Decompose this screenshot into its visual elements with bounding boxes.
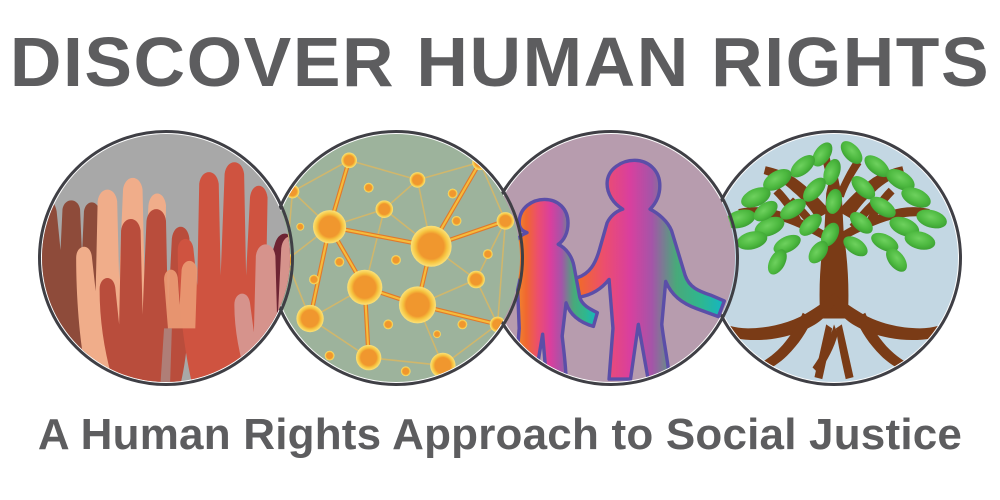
discover-human-rights-banner: DISCOVER HUMAN RIGHTS (0, 0, 1000, 500)
page-subtitle: A Human Rights Approach to Social Justic… (0, 410, 1000, 460)
circle-network-nodes (268, 130, 524, 386)
page-title: DISCOVER HUMAN RIGHTS (0, 26, 1000, 98)
circle-tree-of-life (706, 130, 962, 386)
icon-circle-row (0, 130, 1000, 388)
circle-raised-hands (38, 130, 294, 386)
tree-illustration (709, 133, 959, 383)
raised-hands-illustration (41, 133, 291, 383)
network-illustration (271, 133, 521, 383)
